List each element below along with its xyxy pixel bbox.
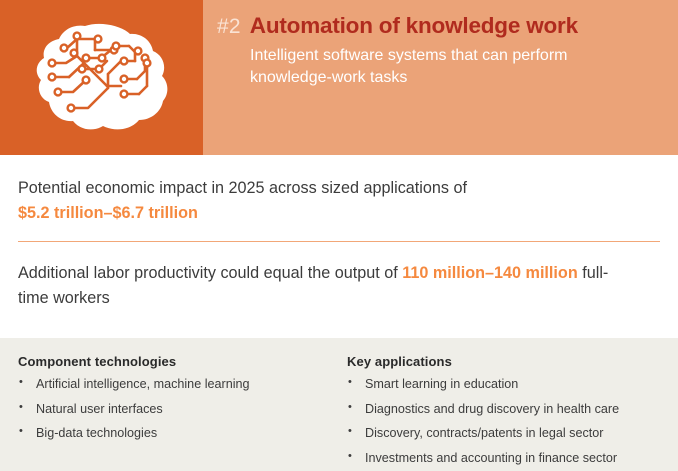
list-item: Discovery, contracts/patents in legal se…: [347, 427, 678, 440]
economic-impact-statement: Potential economic impact in 2025 across…: [18, 176, 660, 225]
labor-productivity-value: 110 million–140 million: [402, 264, 577, 282]
header-text-panel: #2 Automation of knowledge work Intellig…: [203, 0, 678, 155]
list-item: Diagnostics and drug discovery in health…: [347, 403, 678, 416]
title-row: #2 Automation of knowledge work: [217, 8, 658, 38]
impact-section: Potential economic impact in 2025 across…: [0, 155, 678, 338]
labor-productivity-block: Additional labor productivity could equa…: [18, 242, 660, 310]
labor-productivity-prefix: Additional labor productivity could equa…: [18, 264, 402, 282]
list-item: Natural user interfaces: [18, 403, 330, 416]
list-item: Big-data technologies: [18, 427, 330, 440]
component-technologies-list: Artificial intelligence, machine learnin…: [18, 378, 330, 440]
labor-productivity-statement: Additional labor productivity could equa…: [18, 261, 628, 310]
header-banner: #2 Automation of knowledge work Intellig…: [0, 0, 678, 155]
economic-impact-block: Potential economic impact in 2025 across…: [18, 155, 660, 225]
brain-circuit-icon: [33, 22, 171, 134]
icon-panel: [0, 0, 203, 155]
list-item: Smart learning in education: [347, 378, 678, 391]
subtitle: Intelligent software systems that can pe…: [250, 45, 630, 90]
rank-number: #2: [217, 16, 241, 37]
economic-impact-value: $5.2 trillion–$6.7 trillion: [18, 204, 198, 222]
page-title: Automation of knowledge work: [250, 14, 578, 38]
key-applications-heading: Key applications: [347, 354, 678, 369]
economic-impact-prefix: Potential economic impact in 2025 across…: [18, 179, 467, 197]
key-applications-list: Smart learning in education Diagnostics …: [347, 378, 678, 464]
details-section: Component technologies Artificial intell…: [0, 338, 678, 471]
list-item: Investments and accounting in finance se…: [347, 452, 678, 465]
list-item: Artificial intelligence, machine learnin…: [18, 378, 330, 391]
